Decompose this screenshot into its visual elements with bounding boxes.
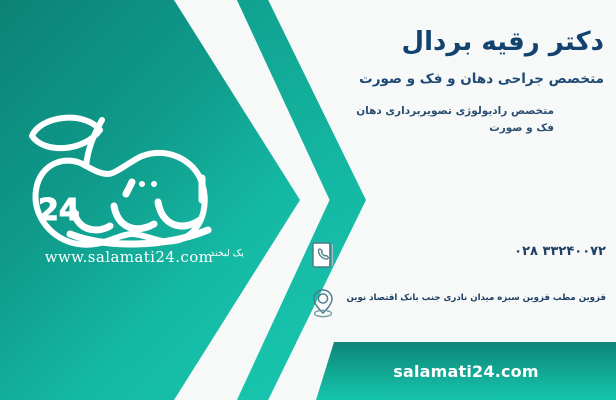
phone-book-icon	[306, 238, 340, 272]
logo-website: www.salamati24.com	[22, 248, 236, 266]
address-row[interactable]: قزوین مطب قزوین سبزه میدان نادری جنب بان…	[306, 286, 606, 320]
doctor-specialty: متخصص جراحی دهان و فک و صورت	[304, 69, 604, 89]
business-card: 24 براحتی یک لبخند www.salamati24.com دک…	[0, 0, 616, 400]
phone-row[interactable]: ۳۳۲۴۰۰۷۲ ۰۲۸	[306, 238, 606, 272]
address-text: قزوین مطب قزوین سبزه میدان نادری جنب بان…	[340, 286, 606, 305]
map-pin-icon	[306, 286, 340, 320]
apple-leaf-icon: 24 براحتی یک لبخند	[14, 108, 244, 258]
brand-logo: 24 براحتی یک لبخند www.salamati24.com	[14, 108, 244, 278]
contact-block: ۳۳۲۴۰۰۷۲ ۰۲۸ قزوین مطب قزوین سبزه میدان …	[306, 238, 606, 334]
doctor-sub-specialty-line1: متخصص رادیولوژی تصویربرداری دهان	[304, 103, 554, 120]
doctor-name: دکتر رقیه بردال	[304, 26, 604, 59]
doctor-sub-specialty-line2: فک و صورت	[304, 120, 554, 137]
footer-bar[interactable]: salamati24.com	[316, 342, 616, 400]
doctor-info: دکتر رقیه بردال متخصص جراحی دهان و فک و …	[304, 26, 604, 136]
phone-number: ۳۳۲۴۰۰۷۲ ۰۲۸	[340, 238, 606, 259]
footer-website: salamati24.com	[393, 362, 539, 381]
